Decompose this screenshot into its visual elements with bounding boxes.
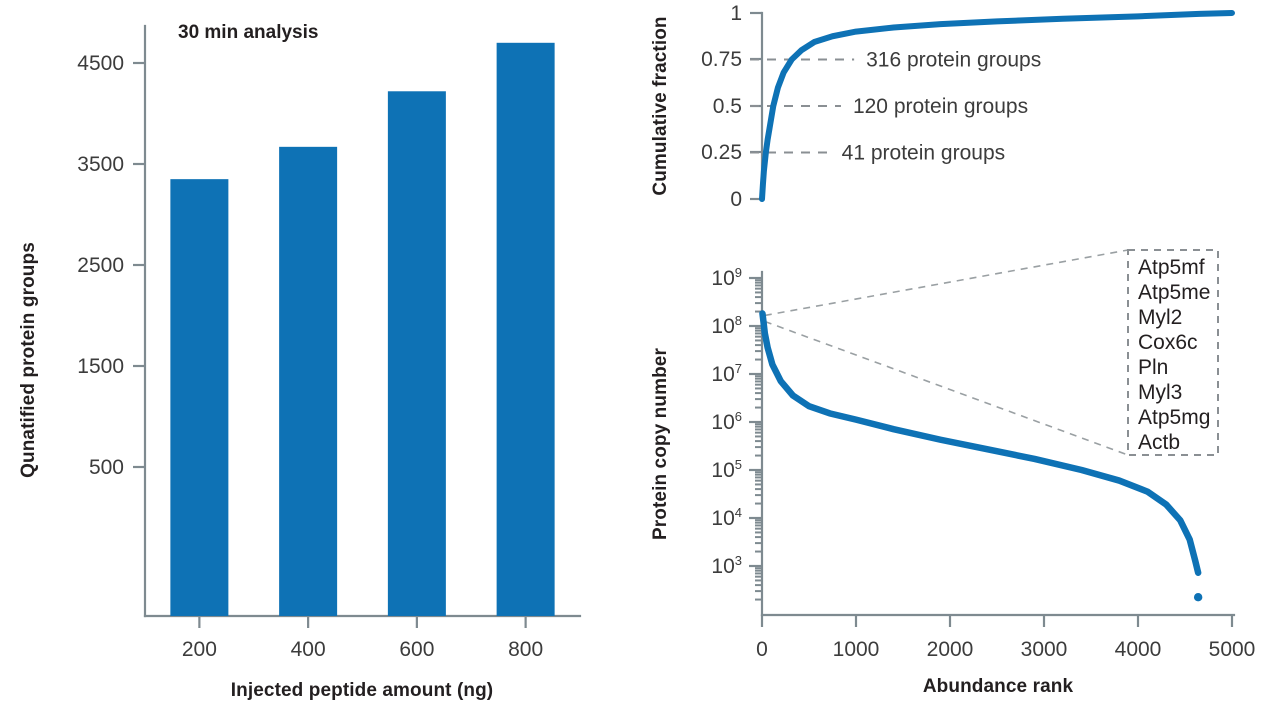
rank-x-ticklabel: 2000 bbox=[927, 638, 974, 661]
rank-y-ticklabel: 103 bbox=[711, 553, 742, 578]
rank-x-ticklabel: 0 bbox=[756, 638, 768, 661]
bar-chart-panel: 4500 3500 2500 1500 500 200400600800 30 … bbox=[0, 0, 640, 712]
rank-x-axis-title: Abundance rank bbox=[923, 676, 1074, 697]
cumulative-y-ticklabel: 0.75 bbox=[701, 48, 742, 71]
rank-callout-label: Atp5mf bbox=[1138, 256, 1205, 279]
rank-y-ticklabel: 107 bbox=[711, 361, 742, 386]
rank-callout-leader-bottom bbox=[765, 321, 1128, 455]
cumulative-annotation-label: 316 protein groups bbox=[866, 49, 1041, 72]
rank-callout-label: Cox6c bbox=[1138, 331, 1198, 354]
rank-y-ticklabel: 108 bbox=[711, 313, 742, 338]
rank-chart-svg: 103104105106107108109 010002000300040005… bbox=[640, 232, 1280, 712]
bar-x-ticklabels: 200400600800 bbox=[182, 638, 543, 661]
cumulative-y-ticklabel: 1 bbox=[730, 2, 742, 25]
rank-chart-panel: 103104105106107108109 010002000300040005… bbox=[640, 232, 1280, 712]
bar-y-ticklabel: 2500 bbox=[77, 254, 124, 277]
cumulative-y-ticklabel: 0.25 bbox=[701, 141, 742, 164]
rank-callout-leader-top bbox=[765, 250, 1128, 315]
cumulative-y-axis-title: Cumulative fraction bbox=[650, 16, 671, 195]
bar-y-ticklabel: 3500 bbox=[77, 153, 124, 176]
rank-y-axis-title: Protein copy number bbox=[650, 348, 671, 540]
rank-callout-label: Myl2 bbox=[1138, 306, 1182, 329]
rank-x-ticklabels: 010002000300040005000 bbox=[756, 638, 1255, 661]
rank-callout: Atp5mfAtp5meMyl2Cox6cPlnMyl3Atp5mgActb bbox=[765, 250, 1218, 455]
rank-callout-label: Myl3 bbox=[1138, 381, 1182, 404]
rank-y-ticklabel: 109 bbox=[711, 265, 742, 290]
cumulative-y-ticklabel: 0.5 bbox=[713, 95, 742, 118]
rank-x-ticklabel: 5000 bbox=[1209, 638, 1256, 661]
rank-callout-label: Pln bbox=[1138, 356, 1168, 379]
cumulative-chart-svg: 1 0.75 0.5 0.25 0 316 protein groups120 … bbox=[640, 0, 1280, 232]
cumulative-y-ticklabel: 0 bbox=[730, 188, 742, 211]
cumulative-annotations: 316 protein groups120 protein groups41 p… bbox=[750, 49, 1041, 165]
rank-x-ticklabel: 1000 bbox=[833, 638, 880, 661]
bar-y-ticklabel: 4500 bbox=[77, 52, 124, 75]
bar-x-ticklabel: 400 bbox=[291, 638, 326, 661]
bar-200 bbox=[170, 179, 228, 616]
bar-y-axis-title: Qunatified protein groups bbox=[18, 242, 39, 478]
rank-outlier-point bbox=[1194, 593, 1202, 601]
cumulative-annotation-label: 120 protein groups bbox=[853, 95, 1028, 118]
bar-chart-svg: 4500 3500 2500 1500 500 200400600800 30 … bbox=[0, 0, 640, 712]
rank-y-ticklabel: 104 bbox=[711, 505, 742, 530]
bar-x-axis-title: Injected peptide amount (ng) bbox=[231, 680, 493, 701]
rank-y-ticks bbox=[749, 278, 762, 600]
rank-y-ticklabels: 103104105106107108109 bbox=[711, 265, 742, 578]
rank-x-ticks bbox=[762, 615, 1232, 627]
bar-800 bbox=[497, 43, 555, 616]
bar-panel-title: 30 min analysis bbox=[178, 22, 318, 43]
cumulative-chart-panel: 1 0.75 0.5 0.25 0 316 protein groups120 … bbox=[640, 0, 1280, 232]
bar-series bbox=[170, 43, 554, 616]
rank-y-ticklabel: 105 bbox=[711, 457, 742, 482]
bar-600 bbox=[388, 91, 446, 616]
rank-y-ticklabel: 106 bbox=[711, 409, 742, 434]
rank-curve bbox=[762, 314, 1198, 573]
cumulative-y-ticklabels: 1 0.75 0.5 0.25 0 bbox=[701, 2, 742, 211]
rank-x-ticklabel: 4000 bbox=[1115, 638, 1162, 661]
rank-x-ticklabel: 3000 bbox=[1021, 638, 1068, 661]
bar-x-ticklabel: 800 bbox=[508, 638, 543, 661]
bar-x-ticklabel: 200 bbox=[182, 638, 217, 661]
bar-y-ticklabel: 1500 bbox=[77, 355, 124, 378]
rank-callout-label: Atp5me bbox=[1138, 281, 1210, 304]
bar-y-ticklabel: 500 bbox=[89, 456, 124, 479]
rank-callout-label: Actb bbox=[1138, 431, 1180, 454]
cumulative-annotation-label: 41 protein groups bbox=[842, 142, 1005, 165]
bar-y-ticklabels: 4500 3500 2500 1500 500 bbox=[77, 52, 124, 479]
bar-y-ticks bbox=[133, 63, 145, 467]
figure-root: 4500 3500 2500 1500 500 200400600800 30 … bbox=[0, 0, 1280, 712]
bar-x-ticks bbox=[199, 616, 525, 628]
bar-x-ticklabel: 600 bbox=[399, 638, 434, 661]
rank-callout-label: Atp5mg bbox=[1138, 406, 1210, 429]
bar-400 bbox=[279, 147, 337, 616]
